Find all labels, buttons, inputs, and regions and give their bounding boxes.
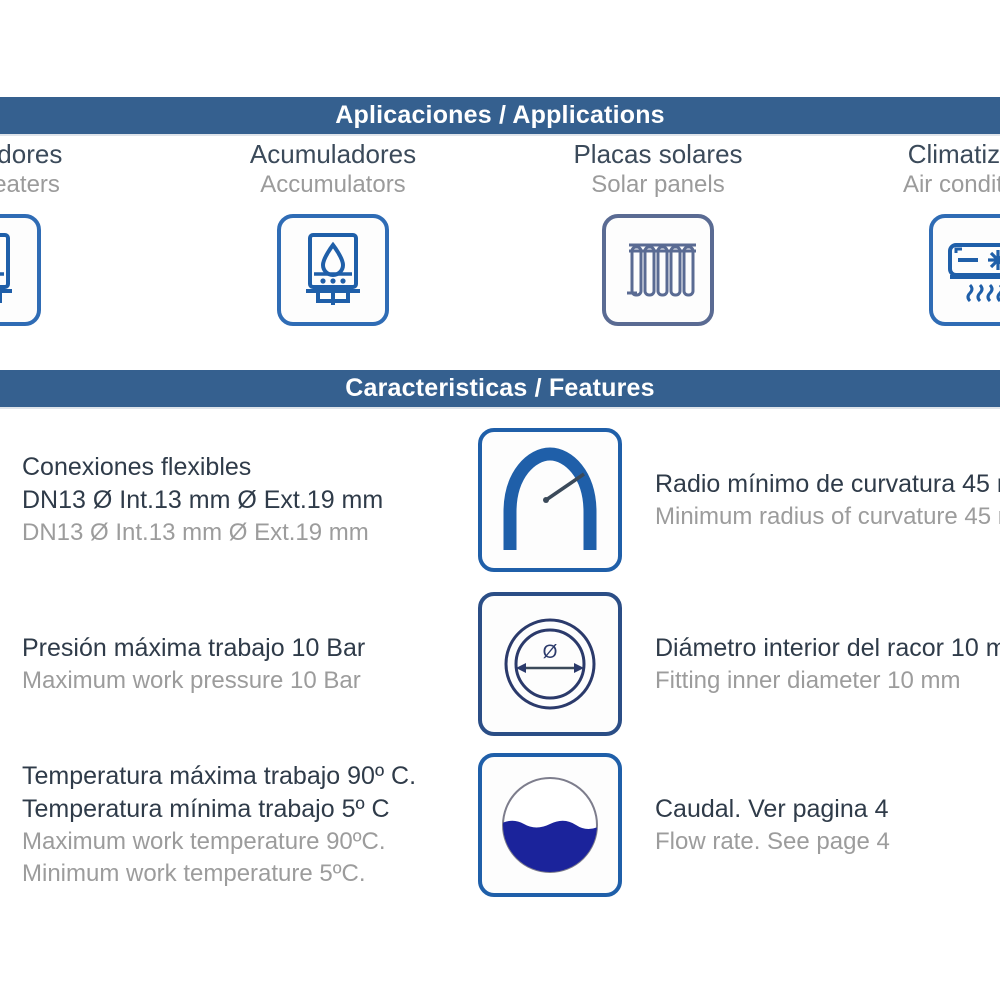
feature-row: Conexiones flexibles DN13 Ø Int.13 mm Ø …	[0, 420, 1000, 580]
application-item-water-heaters: Calentadores Water heaters	[0, 138, 110, 326]
feature-left-text: Temperatura máxima trabajo 90º C. Temper…	[22, 745, 472, 905]
application-title-es: Climatización	[860, 138, 1000, 170]
feature-line-en: Minimum radius of curvature 45 mm	[655, 501, 1000, 533]
feature-line-es: Presión máxima trabajo 10 Bar	[22, 632, 472, 665]
application-title-en: Air conditioning	[860, 170, 1000, 200]
feature-row: Presión máxima trabajo 10 Bar Maximum wo…	[0, 584, 1000, 744]
features-header-label: Caracteristicas / Features	[345, 374, 655, 403]
application-title-en: Solar panels	[533, 170, 783, 200]
radiator-icon	[533, 214, 783, 326]
feature-right-text: Caudal. Ver pagina 4 Flow rate. See page…	[655, 745, 1000, 905]
feature-line-en: Minimum work temperature 5ºC.	[22, 858, 472, 890]
feature-line-es: Temperatura máxima trabajo 90º C.	[22, 760, 472, 793]
feature-row: Temperatura máxima trabajo 90º C. Temper…	[0, 745, 1000, 905]
feature-line-es: Temperatura mínima trabajo 5º C	[22, 793, 472, 826]
flow-rate-icon	[478, 753, 622, 897]
feature-line-en: Maximum work pressure 10 Bar	[22, 665, 472, 697]
diameter-symbol: Ø	[543, 642, 558, 663]
feature-line-es: Diámetro interior del racor 10 mm	[655, 632, 1000, 665]
feature-line-es: DN13 Ø Int.13 mm Ø Ext.19 mm	[22, 484, 472, 517]
applications-header-divider	[0, 134, 1000, 136]
feature-left-text: Conexiones flexibles DN13 Ø Int.13 mm Ø …	[22, 420, 472, 580]
applications-section-header: Aplicaciones / Applications	[0, 97, 1000, 134]
applications-header-label: Aplicaciones / Applications	[335, 101, 665, 130]
application-item-air-conditioning: Climatización Air conditioning	[860, 138, 1000, 326]
application-item-accumulators: Acumuladores Accumulators	[208, 138, 458, 326]
features-grid: Conexiones flexibles DN13 Ø Int.13 mm Ø …	[0, 412, 1000, 912]
applications-row: Calentadores Water heaters	[0, 138, 1000, 363]
feature-line-es: Conexiones flexibles	[22, 451, 472, 484]
water-heater-icon	[0, 214, 110, 326]
feature-line-en: Fitting inner diameter 10 mm	[655, 665, 1000, 697]
feature-line-en: Maximum work temperature 90ºC.	[22, 826, 472, 858]
feature-right-text: Diámetro interior del racor 10 mm Fittin…	[655, 584, 1000, 744]
feature-left-text: Presión máxima trabajo 10 Bar Maximum wo…	[22, 584, 472, 744]
bend-radius-icon	[478, 428, 622, 572]
feature-right-text: Radio mínimo de curvatura 45 mm Minimum …	[655, 420, 1000, 580]
datasheet-page: Aplicaciones / Applications Calentadores…	[0, 0, 1000, 1000]
air-conditioner-icon	[860, 214, 1000, 326]
application-title-en: Accumulators	[208, 170, 458, 200]
features-section-header: Caracteristicas / Features	[0, 370, 1000, 407]
feature-line-en: Flow rate. See page 4	[655, 826, 1000, 858]
application-title-en: Water heaters	[0, 170, 110, 200]
feature-line-en: DN13 Ø Int.13 mm Ø Ext.19 mm	[22, 517, 472, 549]
application-item-solar-panels: Placas solares Solar panels	[533, 138, 783, 326]
feature-line-es: Radio mínimo de curvatura 45 mm	[655, 468, 1000, 501]
features-header-divider	[0, 407, 1000, 409]
accumulator-icon	[208, 214, 458, 326]
feature-line-es: Caudal. Ver pagina 4	[655, 793, 1000, 826]
application-title-es: Calentadores	[0, 138, 110, 170]
inner-diameter-icon: Ø	[478, 592, 622, 736]
application-title-es: Placas solares	[533, 138, 783, 170]
application-title-es: Acumuladores	[208, 138, 458, 170]
